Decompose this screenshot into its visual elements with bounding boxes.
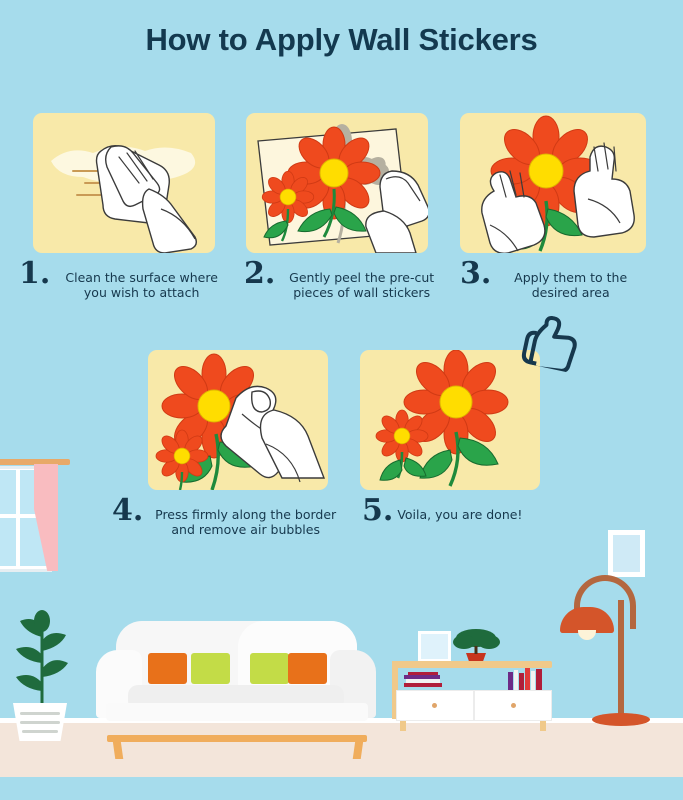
window-mullion-vertical [16,470,20,566]
step-card-5: 5. Voila, you are done! [360,350,540,490]
step-1-caption: 1. Clean the surface where you wish to a… [19,261,229,300]
sideboard-leg [400,721,406,731]
pot-line [22,730,58,733]
wall-picture-frame [608,530,645,577]
pillow-green-right [250,653,289,684]
step-5-caption: 5. Voila, you are done! [362,498,562,524]
step-3-number: 3. [460,261,491,287]
step-2-text: Gently peel the pre-cut pieces of wall s… [279,261,444,300]
step-5-text: Voila, you are done! [397,498,522,522]
drawer-knob-left [432,703,437,708]
step-3-illustration [460,113,646,253]
sideboard-top [392,661,552,668]
step-card-2: 2. Gently peel the pre-cut pieces of wal… [246,113,428,253]
step-4-caption: 4. Press firmly along the border and rem… [112,498,344,537]
sofa-rail [107,735,367,742]
step-2-number: 2. [244,261,275,287]
pillow-green-left [191,653,230,684]
book-row-right [508,668,544,690]
lamp-pole [618,600,624,718]
sideboard-leg [540,721,546,731]
step-2-illustration [246,113,428,253]
sideboard-picture-frame [418,631,451,662]
lamp-bulb [578,630,596,640]
step-1-illustration [33,113,215,253]
floor [0,723,683,777]
sideboard-divider [473,690,475,721]
step-2-caption: 2. Gently peel the pre-cut pieces of wal… [244,261,444,300]
pot-line [20,712,60,715]
infographic-stage: How to Apply Wall Stickers 1. Clean the … [0,0,683,800]
step-3-caption: 3. Apply them to the desired area [460,261,646,300]
step-4-text: Press firmly along the border and remove… [147,498,344,537]
step-4-illustration [148,350,328,490]
step-5-illustration [360,350,540,490]
lamp-base [592,713,650,726]
drawer-knob-right [511,703,516,708]
bottom-bar [0,777,683,800]
book-stack-left [404,672,440,685]
pillow-orange-right [288,653,327,684]
pillow-orange-left [148,653,187,684]
sofa-base [106,703,368,721]
step-card-3: 3. Apply them to the desired area [460,113,646,253]
step-card-4: 4. Press firmly along the border and rem… [148,350,328,490]
page-title: How to Apply Wall Stickers [0,22,683,58]
step-1-text: Clean the surface where you wish to atta… [54,261,229,300]
step-1-number: 1. [19,261,50,287]
step-card-1: 1. Clean the surface where you wish to a… [33,113,215,253]
step-5-number: 5. [362,498,393,524]
step-3-text: Apply them to the desired area [495,261,646,300]
pot-line [20,721,60,724]
step-4-number: 4. [112,498,143,524]
